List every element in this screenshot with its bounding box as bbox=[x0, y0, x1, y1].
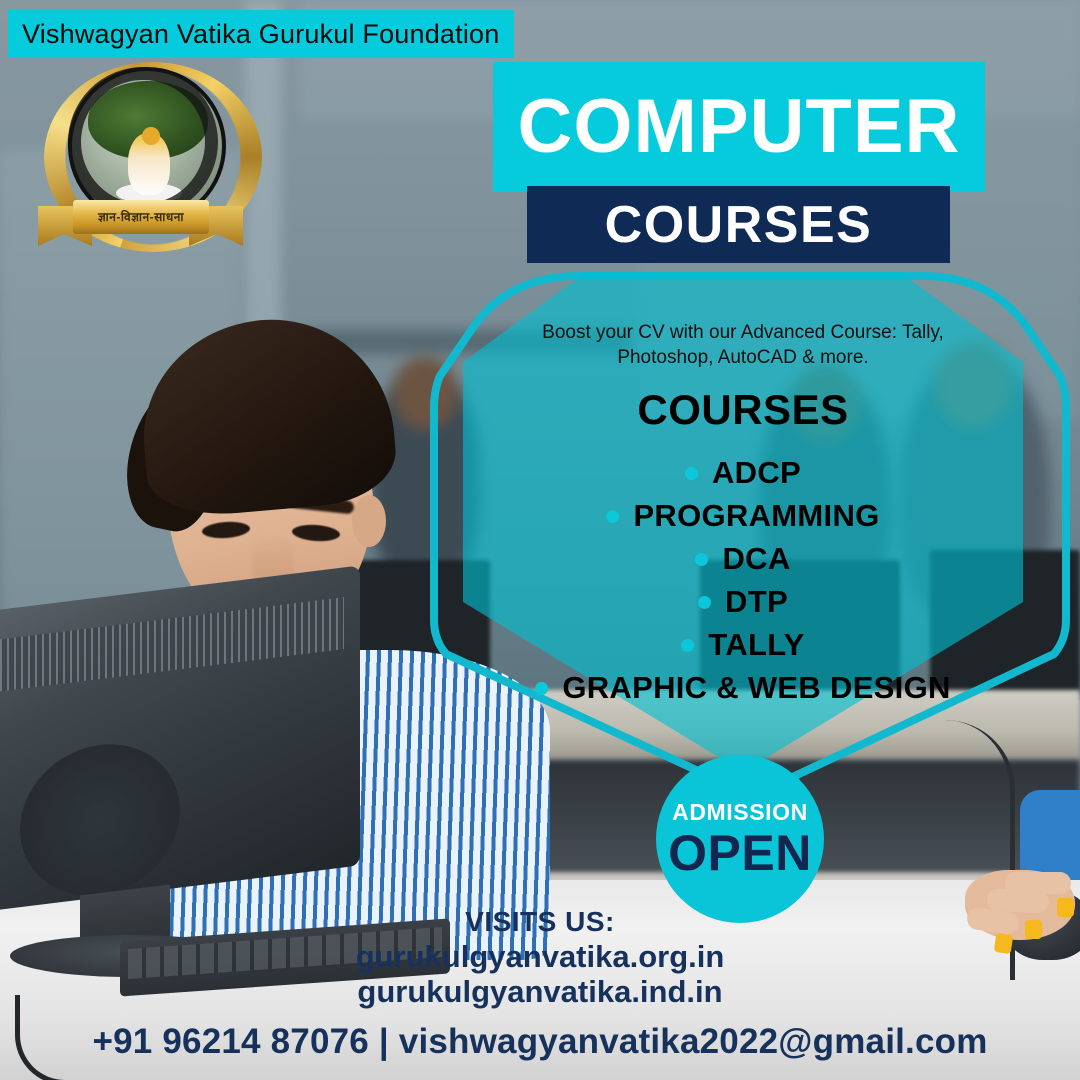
foreground-monitor bbox=[0, 590, 390, 950]
phone-email-footer[interactable]: +91 96214 87076 | vishwagyanvatika2022@g… bbox=[0, 1022, 1080, 1062]
finger bbox=[1005, 872, 1071, 894]
course-name: PROGRAMMING bbox=[633, 498, 879, 534]
course-name: DCA bbox=[722, 541, 790, 577]
foundation-logo: ज्ञान-विज्ञान-साधना bbox=[38, 62, 243, 257]
course-item: ADCP bbox=[463, 455, 1023, 491]
bullet-dot-icon bbox=[698, 596, 711, 609]
bullet-dot-icon bbox=[606, 510, 619, 523]
course-list: ADCP PROGRAMMING DCA DTP TALLY GRAPHIC &… bbox=[463, 448, 1023, 713]
title-secondary-block: COURSES bbox=[527, 186, 950, 263]
bullet-dot-icon bbox=[685, 467, 698, 480]
course-item: TALLY bbox=[463, 627, 1023, 663]
student-hair bbox=[134, 309, 400, 520]
course-name: DTP bbox=[725, 584, 788, 620]
website-secondary[interactable]: gurukulgyanvatika.ind.in bbox=[0, 974, 1080, 1009]
admission-status: OPEN bbox=[668, 828, 812, 878]
title-courses: COURSES bbox=[605, 199, 873, 251]
bullet-dot-icon bbox=[695, 553, 708, 566]
website-primary[interactable]: gurukulgyanvatika.org.in bbox=[0, 939, 1080, 974]
contact-block: VISITS US: gurukulgyanvatika.org.in guru… bbox=[0, 905, 1080, 1009]
admission-open-badge: ADMISSION OPEN bbox=[656, 755, 824, 923]
title-primary-block: COMPUTER bbox=[493, 62, 985, 192]
poster-canvas: Vishwagyan Vatika Gurukul Foundation ज्ञ… bbox=[0, 0, 1080, 1080]
bullet-dot-icon bbox=[535, 682, 548, 695]
organization-banner: Vishwagyan Vatika Gurukul Foundation bbox=[8, 10, 514, 58]
course-item: DCA bbox=[463, 541, 1023, 577]
ribbon-motto: ज्ञान-विज्ञान-साधना bbox=[73, 208, 209, 225]
admission-label: ADMISSION bbox=[672, 801, 808, 824]
tagline-text: Boost your CV with our Advanced Course: … bbox=[528, 320, 958, 370]
course-name: ADCP bbox=[712, 455, 801, 491]
logo-ribbon: ज्ञान-विज्ञान-साधना bbox=[38, 192, 243, 254]
courses-heading: COURSES bbox=[637, 386, 848, 434]
course-item: PROGRAMMING bbox=[463, 498, 1023, 534]
course-item: DTP bbox=[463, 584, 1023, 620]
visit-us-label: VISITS US: bbox=[0, 905, 1080, 939]
bullet-dot-icon bbox=[681, 639, 694, 652]
organization-name: Vishwagyan Vatika Gurukul Foundation bbox=[22, 19, 500, 50]
course-name: TALLY bbox=[708, 627, 804, 663]
course-item: GRAPHIC & WEB DESIGN bbox=[463, 670, 1023, 706]
student-ear bbox=[352, 495, 386, 547]
title-computer: COMPUTER bbox=[518, 89, 961, 165]
course-name: GRAPHIC & WEB DESIGN bbox=[562, 670, 950, 706]
courses-panel: Boost your CV with our Advanced Course: … bbox=[463, 300, 1023, 720]
